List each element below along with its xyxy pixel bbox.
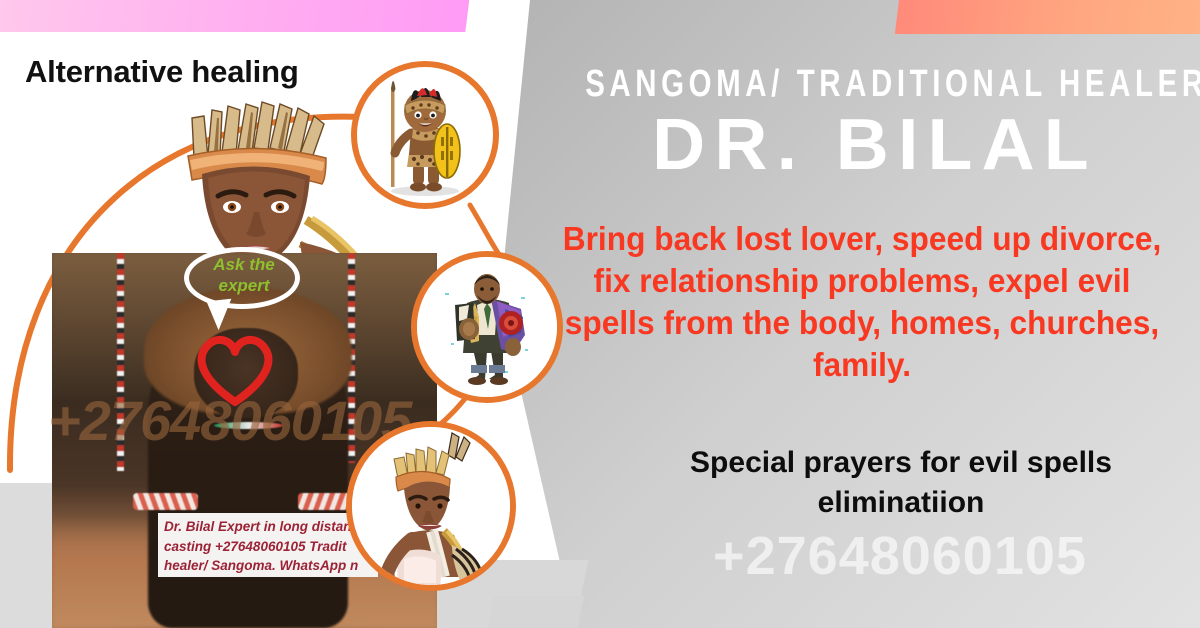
crouching-dancer-illustration [352,427,510,585]
zulu-warrior-boy-illustration [357,67,493,203]
photo-caption-box: Dr. Bilal Expert in long distan casting … [158,513,378,577]
robed-healer-illustration [417,257,557,397]
circle-zulu-warrior-boy [351,61,499,209]
photo-subject-armband-left [133,493,198,510]
speech-bubble-label: Ask the expert [190,254,298,297]
doctor-name: DR. BILAL [554,104,1197,186]
poster-canvas: Alternative healing [0,0,1200,628]
special-prayers-text: Special prayers for evil spells eliminat… [608,443,1194,522]
circle-robed-healer [411,251,563,403]
phone-number-ghost: +27648060105 [600,525,1200,587]
caption-line-1: Dr. Bilal Expert in long distan [164,517,372,537]
kicker-title: SANGOMA/ TRADITIONAL HEALER [585,62,1165,106]
services-text: Bring back lost lover, speed up divorce,… [545,218,1179,386]
bottom-center-gray-strip-2 [486,596,585,628]
circle-crouching-dancer [346,421,516,591]
caption-line-2: casting +27648060105 Tradit [164,537,372,557]
top-orange-band [895,0,1200,34]
caption-line-3: healer/ Sangoma. WhatsApp n [164,556,372,576]
page-title: Alternative healing [25,54,299,90]
top-pink-band [0,0,470,32]
